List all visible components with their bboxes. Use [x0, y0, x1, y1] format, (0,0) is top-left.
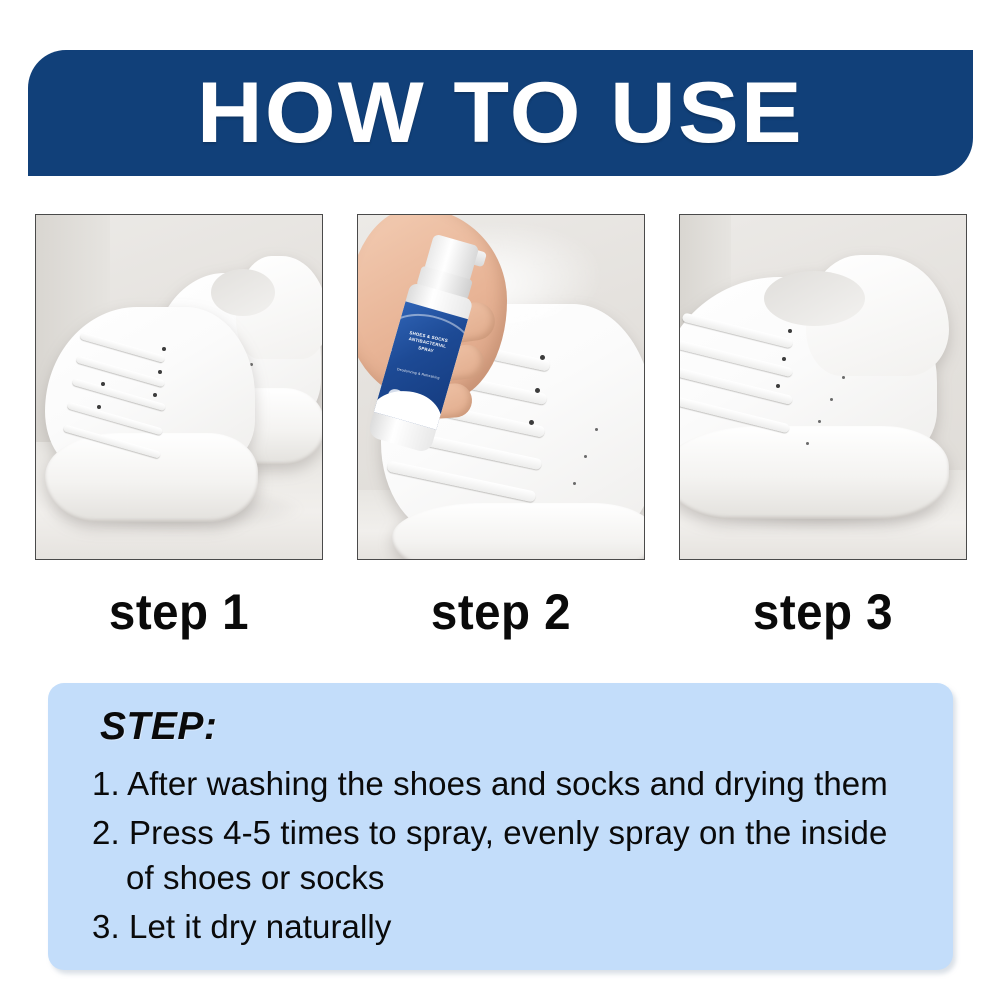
- infographic-page: HOW TO USE: [0, 0, 1001, 1001]
- step-caption-1: step 1: [42, 578, 316, 646]
- sneaker-sole: [45, 433, 258, 522]
- step-caption-2: step 2: [364, 578, 638, 646]
- sneaker-main: [680, 249, 955, 524]
- step-photo-2: SHOES & SOCKS ANTIBACTERIAL SPRAY Deodor…: [357, 214, 645, 560]
- sneaker-front: [45, 298, 262, 532]
- sneaker-eyelet: [535, 388, 540, 393]
- sneaker-sole: [392, 503, 644, 559]
- step-captions-row: step 1 step 2 step 3: [35, 578, 967, 646]
- sneaker-perforation: [595, 428, 598, 431]
- sneaker-perforation: [842, 376, 845, 379]
- instruction-item: 2. Press 4-5 times to spray, evenly spra…: [92, 810, 923, 901]
- sneaker-perforation: [806, 442, 809, 445]
- sneaker-perforation: [584, 455, 587, 458]
- step-photo-3: [679, 214, 967, 560]
- instruction-item: 1. After washing the shoes and socks and…: [92, 761, 923, 807]
- sneaker-eyelet: [529, 420, 534, 425]
- instructions-heading: STEP:: [100, 705, 923, 749]
- sneaker-eyelet: [162, 347, 166, 351]
- bottle-label-foam-graphic: [375, 381, 449, 429]
- header-banner: HOW TO USE: [28, 50, 973, 176]
- sneaker-eyelet: [97, 405, 101, 409]
- photo-sneaker-pair: [36, 215, 322, 559]
- sneaker-eyelet: [158, 370, 162, 374]
- instructions-box: STEP: 1. After washing the shoes and soc…: [48, 683, 953, 970]
- photo-spraying-sneaker: SHOES & SOCKS ANTIBACTERIAL SPRAY Deodor…: [358, 215, 644, 559]
- page-title: HOW TO USE: [197, 70, 804, 156]
- sneaker-perforation: [818, 420, 821, 423]
- sneaker-perforation: [573, 482, 576, 485]
- photo-clean-sneaker: [680, 215, 966, 559]
- sneaker-eyelet: [782, 357, 786, 361]
- sneaker-eyelet: [101, 382, 105, 386]
- sneaker-sole: [680, 426, 949, 520]
- instructions-list: 1. After washing the shoes and socks and…: [78, 761, 923, 949]
- step-caption-3: step 3: [686, 578, 960, 646]
- step-photos-row: SHOES & SOCKS ANTIBACTERIAL SPRAY Deodor…: [35, 214, 967, 560]
- sneaker-perforation: [830, 398, 833, 401]
- instruction-item: 3. Let it dry naturally: [92, 904, 923, 950]
- step-photo-1: [35, 214, 323, 560]
